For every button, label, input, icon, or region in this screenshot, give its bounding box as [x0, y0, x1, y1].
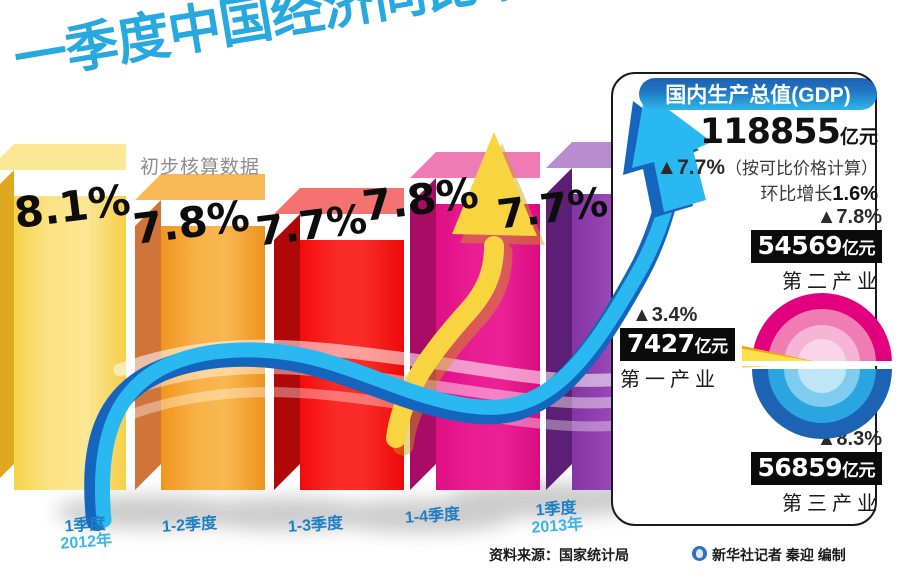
sector-tertiary-value: 56859亿元 — [751, 452, 882, 485]
bar-3 — [300, 214, 404, 490]
sector-secondary: ▲7.8% 54569亿元 第二产业 — [751, 206, 882, 294]
sector-secondary-value: 54569亿元 — [751, 230, 882, 263]
sector-secondary-rate: ▲7.8% — [751, 206, 882, 229]
xinhua-logo-icon — [692, 546, 707, 561]
data-source: 资料来源：国家统计局 — [489, 545, 629, 565]
gdp-qoq-growth: 环比增长1.6% — [760, 180, 878, 206]
gdp-growth-rate: ▲7.7%（按可比价格计算） — [656, 154, 878, 180]
bar-3-side — [274, 214, 300, 490]
pie-slice-tertiary — [752, 369, 892, 439]
chart-subtitle: 初步核算数据 — [140, 152, 260, 179]
sector-primary-value: 7427亿元 — [620, 328, 735, 361]
sector-primary: ▲3.4% 7427亿元 第一产业 — [620, 304, 735, 392]
bar-1-side — [0, 170, 14, 490]
infographic-canvas: 8.1% 7.8% 7.7% 7.8% 7.7% 1季度 2012年 1-2季度… — [0, 0, 900, 581]
bar-2-front — [161, 226, 265, 490]
bar-1-front — [14, 196, 126, 490]
bar-1-top — [0, 144, 126, 170]
gdp-panel-header: 国内生产总值(GDP) — [639, 78, 877, 110]
sector-primary-rate: ▲3.4% — [620, 304, 735, 327]
footer: 资料来源：国家统计局 新华社记者 秦迎 编制 — [0, 545, 900, 575]
bar-5-category-label: 1季度 2013年 — [530, 500, 584, 537]
sector-primary-name: 第一产业 — [620, 363, 735, 392]
gdp-total-value: 118855亿元 — [700, 112, 878, 152]
sector-pie-chart — [742, 283, 900, 443]
credit-line: 新华社记者 秦迎 编制 — [712, 545, 846, 565]
bar-3-front — [300, 240, 404, 490]
sector-tertiary-name: 第三产业 — [751, 487, 882, 516]
bar-4-front — [436, 204, 540, 490]
